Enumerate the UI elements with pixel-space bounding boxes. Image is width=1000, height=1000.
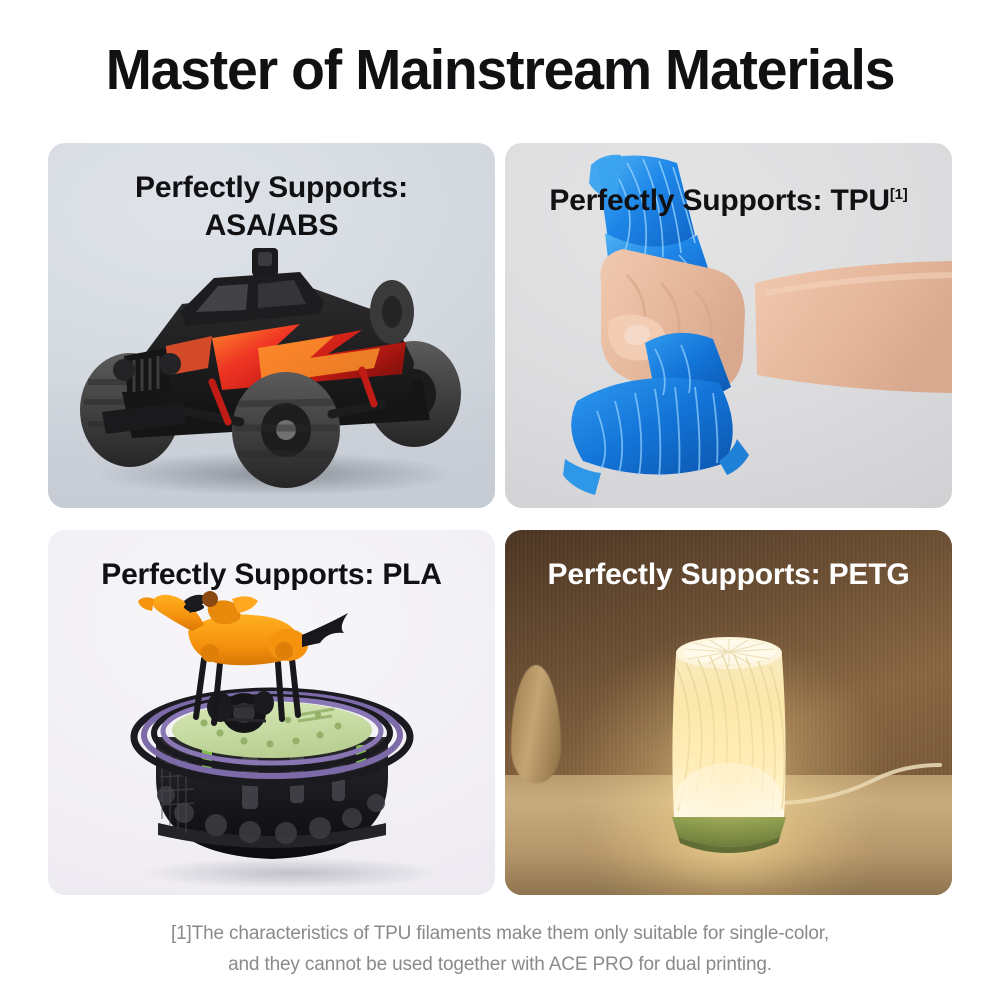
petg-spiral-vase-lamp (658, 621, 800, 869)
pla-horse-carousel-photo (92, 587, 452, 887)
panel-label-text-pla: Perfectly Supports: PLA (101, 558, 441, 591)
footnote-line-2: and they cannot be used together with AC… (60, 949, 940, 980)
panel-label-tpu: Perfectly Supports: TPU[1] (505, 182, 952, 220)
panel-label-pla: Perfectly Supports: PLA (48, 556, 495, 594)
rc-monster-truck-photo (62, 242, 480, 494)
panel-label-text-asa-abs-line2: ASA/ABS (48, 207, 495, 245)
panel-label-petg: Perfectly Supports: PETG (505, 556, 952, 594)
panel-label-asa-abs: Perfectly Supports: ASA/ABS (48, 169, 495, 245)
material-panel-grid: Perfectly Supports: PETG (48, 143, 952, 895)
footnote: [1]The characteristics of TPU filaments … (60, 918, 940, 980)
panel-petg[interactable]: Perfectly Supports: PETG (505, 530, 952, 895)
panel-label-text-asa-abs-line1: Perfectly Supports: (48, 169, 495, 207)
panel-label-text-tpu: Perfectly Supports: TPU (549, 184, 889, 217)
page-title: Master of Mainstream Materials (15, 38, 985, 102)
panel-label-text-petg: Perfectly Supports: PETG (548, 558, 910, 591)
marketing-feature-page: Master of Mainstream Materials (0, 0, 1000, 1000)
footnote-marker-tpu: [1] (890, 186, 908, 203)
footnote-line-1: [1]The characteristics of TPU filaments … (60, 918, 940, 949)
